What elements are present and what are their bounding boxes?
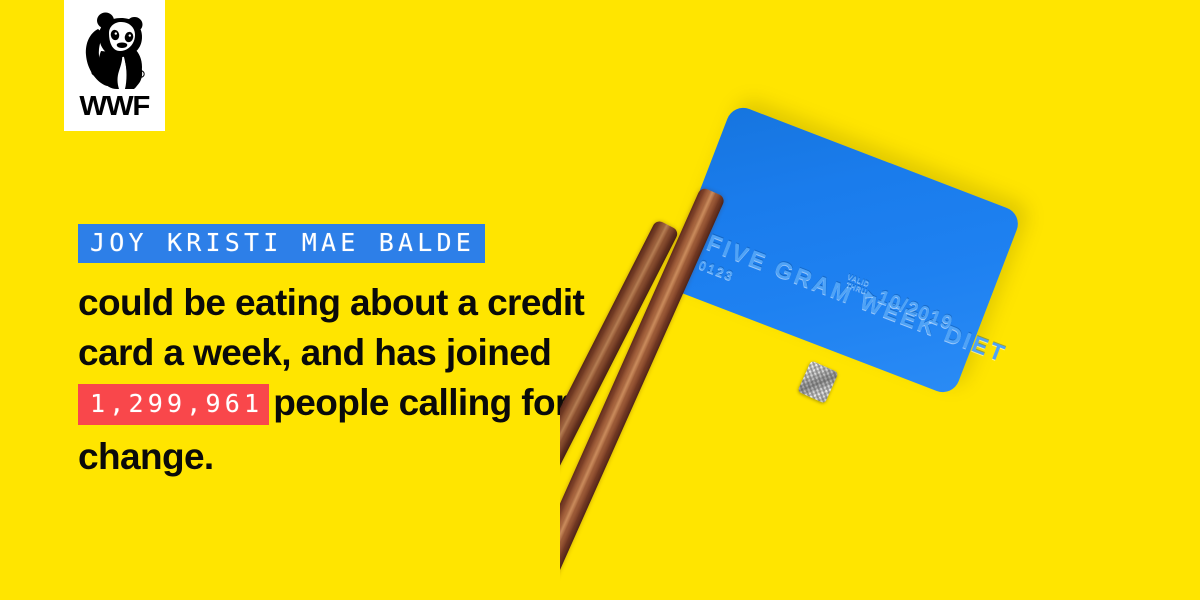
campaign-poster: WWF JOY KRISTI MAE BALDE could be eating… [0,0,1200,600]
message-line-1: could be eating about a credit [78,278,638,328]
message-line-2: card a week, and has joined [78,328,638,378]
metallic-chip-fragment [797,360,838,403]
message-line-4: change. [78,432,638,482]
panda-icon [79,11,151,91]
person-name-line: JOY KRISTI MAE BALDE [78,222,638,272]
credit-card-face: FIVE GRAM WEEK DIET 0123 VALID THRU ▶ 10… [663,103,1023,397]
message-line-3-tail: people calling for [273,382,569,423]
message-line-3: 1,299,961people calling for [78,378,638,428]
card-embossed-name: FIVE GRAM WEEK DIET [703,229,1010,369]
credit-card: FIVE GRAM WEEK DIET 0123 VALID THRU ▶ 10… [663,103,1023,397]
person-name-highlight: JOY KRISTI MAE BALDE [78,224,485,263]
wwf-wordmark: WWF [80,92,150,120]
credit-card-photo: FIVE GRAM WEEK DIET 0123 VALID THRU ▶ 10… [560,0,1200,600]
wwf-logo: WWF [64,0,165,131]
signature-count-highlight: 1,299,961 [78,384,269,425]
campaign-message: JOY KRISTI MAE BALDE could be eating abo… [78,222,638,482]
